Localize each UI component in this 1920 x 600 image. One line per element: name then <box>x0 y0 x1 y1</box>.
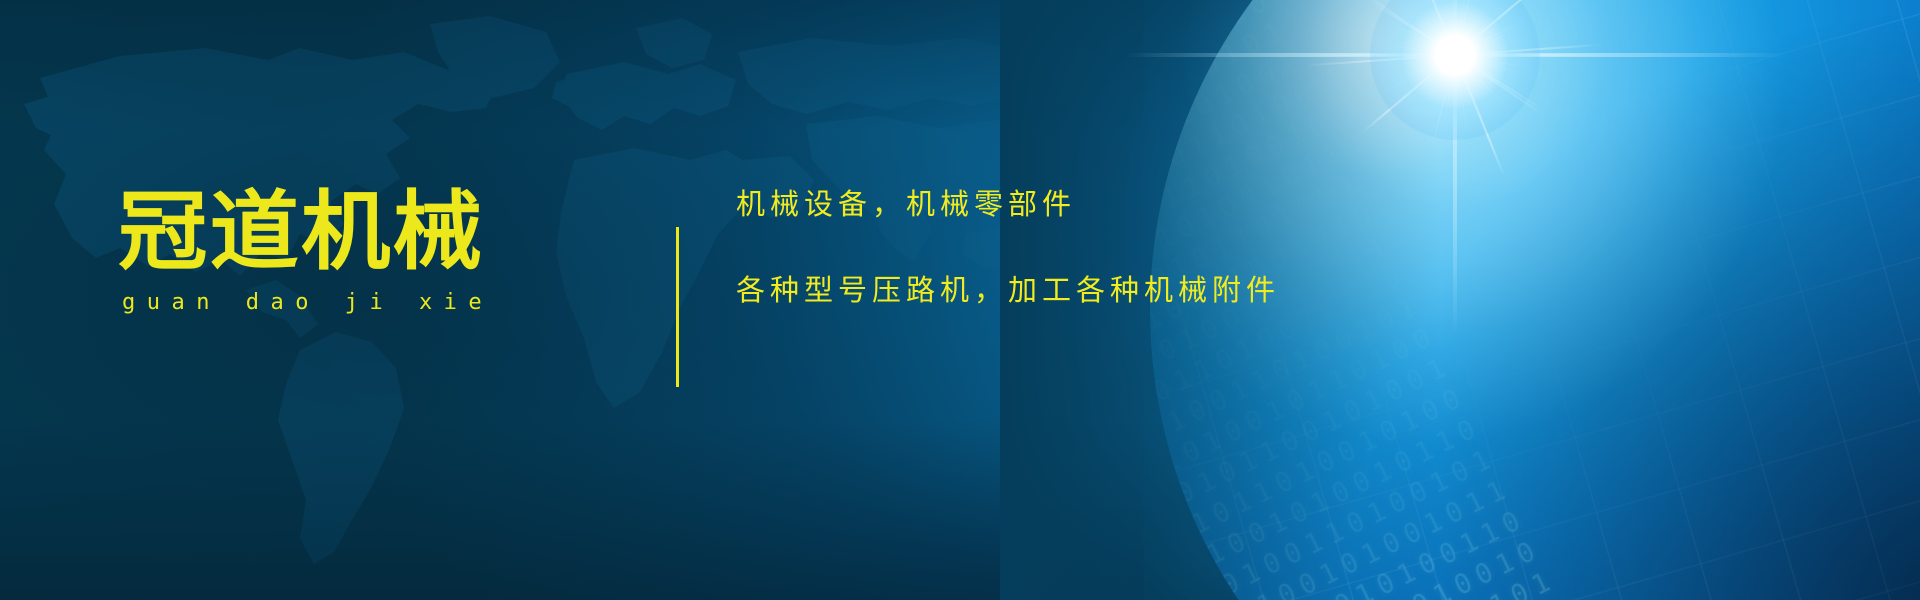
tagline-secondary: 各种型号压路机，加工各种机械附件 <box>736 274 1436 306</box>
brand-logo-block: 冠道机械 guan dao ji xie <box>118 186 558 316</box>
tagline-group: 机械设备，机械零部件 各种型号压路机，加工各种机械附件 <box>736 188 1436 306</box>
banner-content: 冠道机械 guan dao ji xie 机械设备，机械零部件 各种型号压路机，… <box>0 0 1920 600</box>
hero-banner: 10010100110010100101001 0100101001011010… <box>0 0 1920 600</box>
tagline-primary: 机械设备，机械零部件 <box>736 188 1436 220</box>
brand-pinyin: guan dao ji xie <box>118 290 558 316</box>
brand-title: 冠道机械 <box>118 186 576 278</box>
vertical-divider <box>676 227 679 387</box>
